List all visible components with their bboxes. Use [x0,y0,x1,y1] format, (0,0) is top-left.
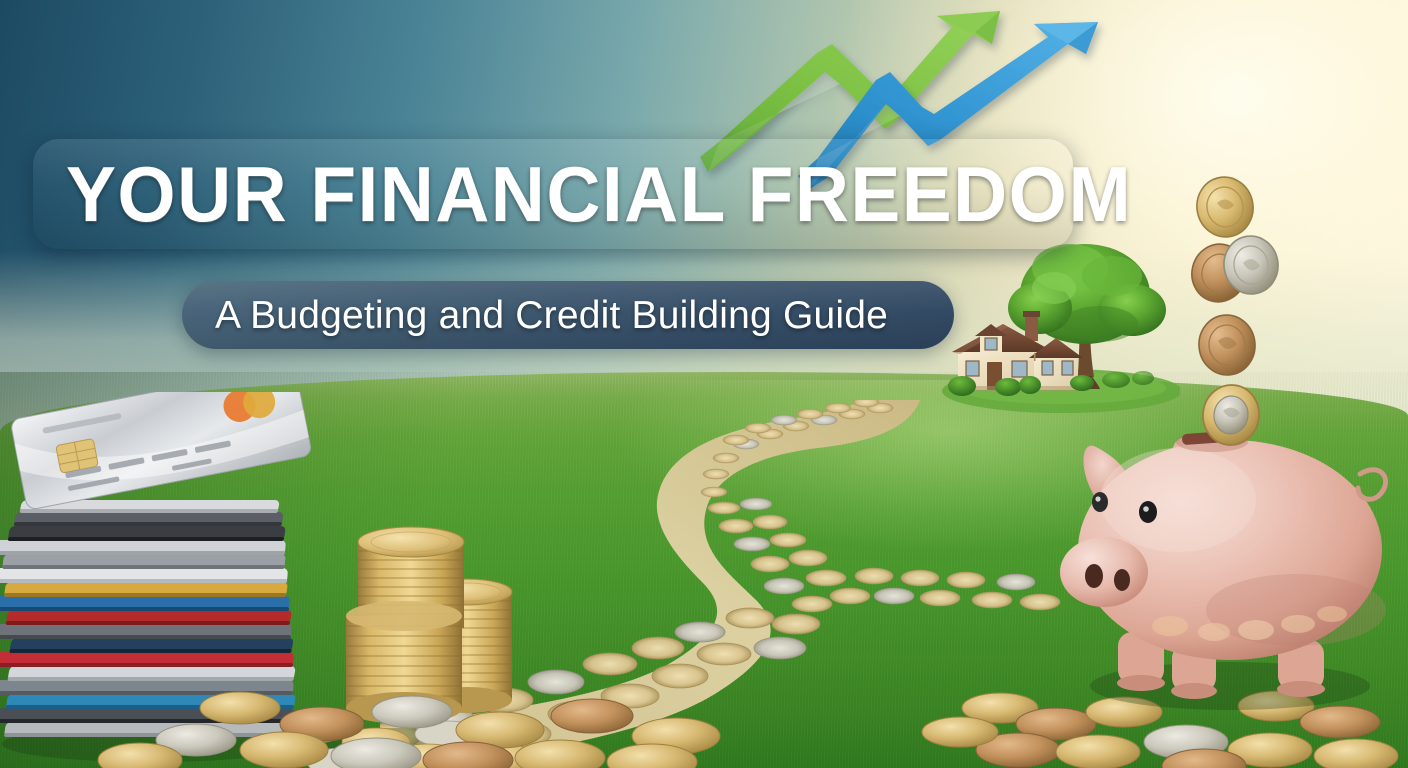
falling-coin-1 [1191,175,1258,242]
title-banner: YOUR FINANCIAL FREEDOM [33,139,1073,249]
piggy-tail [1358,470,1386,499]
page-title: YOUR FINANCIAL FREEDOM [66,155,1132,233]
falling-coins-group [1185,175,1295,445]
house-and-tree-group [930,228,1180,413]
piggy-eye-right [1139,501,1157,523]
falling-coin-4 [1196,312,1258,378]
piggy-eye-left [1092,492,1108,512]
page-subtitle: A Budgeting and Credit Building Guide [215,296,888,335]
falling-coin-5 [1199,381,1263,448]
subtitle-banner: A Budgeting and Credit Building Guide [182,281,954,349]
card-top-silver [10,392,312,510]
piggy-snout [1060,537,1148,607]
poster-canvas: YOUR FINANCIAL FREEDOM A Budgeting and C… [0,0,1408,768]
